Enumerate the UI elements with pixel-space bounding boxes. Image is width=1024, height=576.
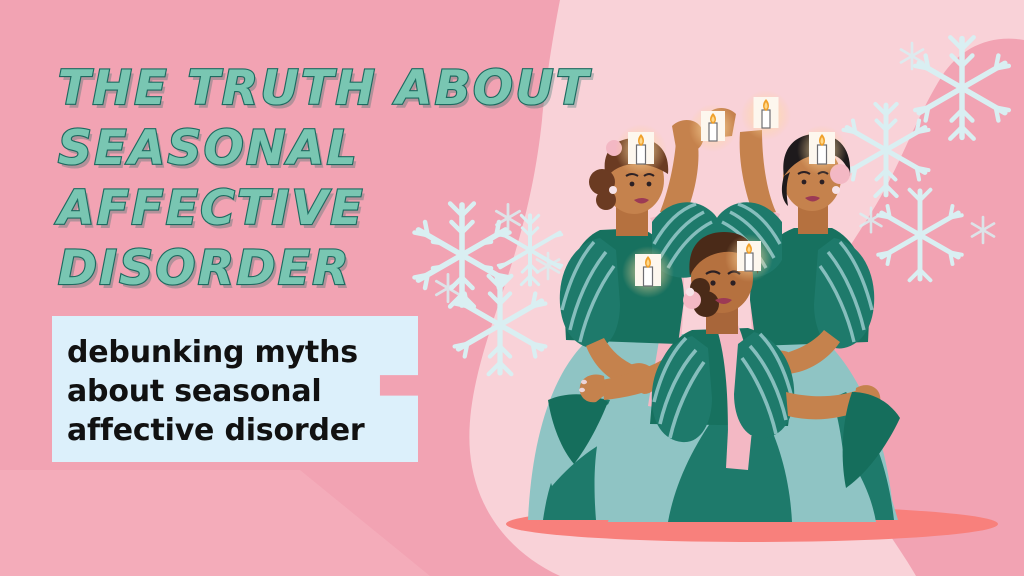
subtitle-line-3: affective disorder (67, 411, 418, 450)
candle-icon (797, 125, 847, 175)
headline-line-2: SEASONAL (58, 122, 528, 175)
candle-icon (689, 104, 737, 152)
snowflake-icon (844, 104, 929, 196)
headline-line-4: DISORDER (58, 242, 528, 295)
candle-icon (615, 124, 667, 176)
headline-line-1: THE TRUTH ABOUT (58, 62, 528, 115)
subtitle-line-2: about seasonal (67, 372, 418, 411)
snowflake-icon (915, 37, 1009, 138)
candle-icon (622, 246, 674, 298)
subtitle-line-1: debunking myths (67, 333, 418, 372)
candle-icon (741, 90, 791, 140)
subtitle-callout: debunking myths about seasonal affective… (52, 316, 418, 462)
snowflake-icon (878, 190, 962, 280)
banner-root: THE TRUTH ABOUT SEASONAL AFFECTIVE DISOR… (0, 0, 1024, 576)
headline-line-3: AFFECTIVE (58, 182, 528, 235)
candle-icon (725, 234, 773, 282)
headline: THE TRUTH ABOUT SEASONAL AFFECTIVE DISOR… (58, 62, 528, 302)
snowflake-icon (861, 208, 882, 232)
snowflake-icon (972, 217, 994, 243)
subtitle-text-group: debunking myths about seasonal affective… (52, 316, 418, 450)
